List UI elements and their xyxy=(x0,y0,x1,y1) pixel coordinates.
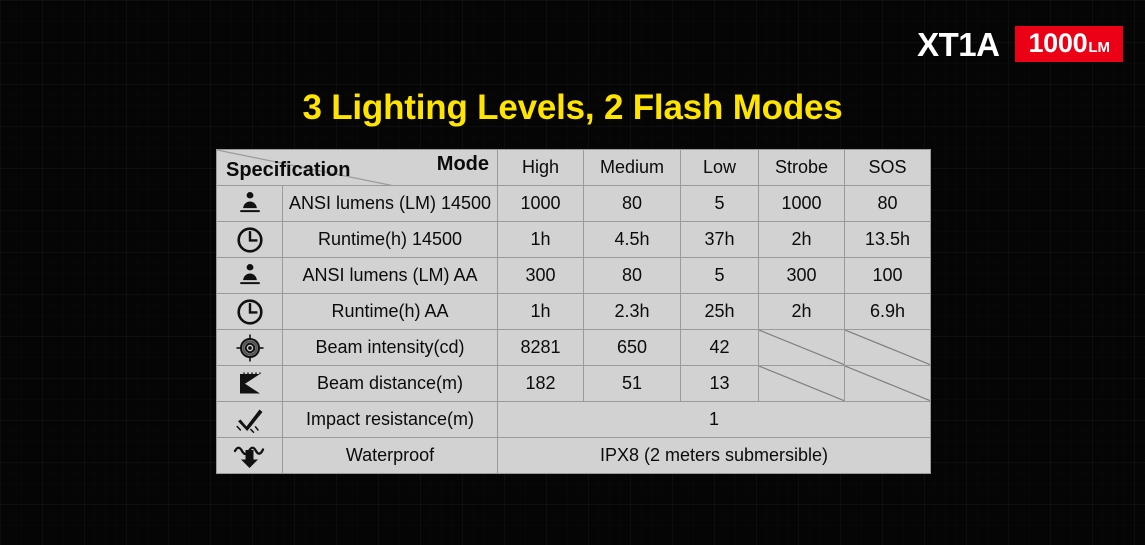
cell-sos: 100 xyxy=(845,258,931,294)
header-corner-cell: Mode Specification xyxy=(217,150,498,186)
cell-waterproof-value: IPX8 (2 meters submersible) xyxy=(498,438,931,474)
header-mode-sos: SOS xyxy=(845,150,931,186)
cell-strobe: 1000 xyxy=(759,186,845,222)
cell-low: 37h xyxy=(681,222,759,258)
cell-high: 8281 xyxy=(498,330,584,366)
cell-sos-not-applicable xyxy=(845,330,931,366)
cell-sos: 13.5h xyxy=(845,222,931,258)
cell-strobe: 2h xyxy=(759,294,845,330)
cell-sos: 6.9h xyxy=(845,294,931,330)
table-row: Waterproof IPX8 (2 meters submersible) xyxy=(217,438,931,474)
cell-high: 300 xyxy=(498,258,584,294)
cell-low: 42 xyxy=(681,330,759,366)
target-icon xyxy=(217,330,283,366)
spec-table-container: Mode Specification High Medium Low Strob… xyxy=(216,149,930,474)
cell-strobe: 2h xyxy=(759,222,845,258)
sunburst-icon xyxy=(217,258,283,294)
lumens-unit: LM xyxy=(1088,40,1110,55)
cell-impact-resistance-value: 1 xyxy=(498,402,931,438)
header-mode-strobe: Strobe xyxy=(759,150,845,186)
cell-strobe-not-applicable xyxy=(759,330,845,366)
specification-table: Mode Specification High Medium Low Strob… xyxy=(216,149,931,474)
table-row: Runtime(h) 14500 1h 4.5h 37h 2h 13.5h xyxy=(217,222,931,258)
clock-icon xyxy=(217,222,283,258)
header-mode-medium: Medium xyxy=(584,150,681,186)
cell-medium: 80 xyxy=(584,186,681,222)
diagonal-slash-icon xyxy=(845,366,930,401)
lumens-value: 1000 xyxy=(1028,30,1087,57)
table-row: Beam distance(m) 182 51 13 xyxy=(217,366,931,402)
model-name: XT1A xyxy=(917,28,999,61)
table-row: ANSI lumens (LM) AA 300 80 5 300 100 xyxy=(217,258,931,294)
header-mode-label: Mode xyxy=(437,153,489,176)
header-spec-label: Specification xyxy=(226,159,350,182)
diagonal-slash-icon xyxy=(759,330,844,365)
cell-high: 182 xyxy=(498,366,584,402)
cell-high: 1h xyxy=(498,222,584,258)
table-body: ANSI lumens (LM) 14500 1000 80 5 1000 80 xyxy=(217,186,931,474)
header-row: Mode Specification High Medium Low Strob… xyxy=(217,150,931,186)
row-label: Impact resistance(m) xyxy=(283,402,498,438)
cell-high: 1h xyxy=(498,294,584,330)
row-label: Beam intensity(cd) xyxy=(283,330,498,366)
model-badge-bar: XT1A 1000LM xyxy=(917,26,1123,62)
table-row: ANSI lumens (LM) 14500 1000 80 5 1000 80 xyxy=(217,186,931,222)
cell-sos: 80 xyxy=(845,186,931,222)
cell-medium: 51 xyxy=(584,366,681,402)
row-label: ANSI lumens (LM) 14500 xyxy=(283,186,498,222)
product-spec-page: XT1A 1000LM 3 Lighting Levels, 2 Flash M… xyxy=(0,0,1145,545)
cell-strobe-not-applicable xyxy=(759,366,845,402)
impact-check-icon xyxy=(217,402,283,438)
cell-low: 13 xyxy=(681,366,759,402)
page-headline: 3 Lighting Levels, 2 Flash Modes xyxy=(0,88,1145,128)
cell-low: 5 xyxy=(681,186,759,222)
cell-medium: 80 xyxy=(584,258,681,294)
row-label: Runtime(h) 14500 xyxy=(283,222,498,258)
cell-medium: 4.5h xyxy=(584,222,681,258)
cell-sos-not-applicable xyxy=(845,366,931,402)
sunburst-icon xyxy=(217,186,283,222)
cell-medium: 650 xyxy=(584,330,681,366)
cell-strobe: 300 xyxy=(759,258,845,294)
lumens-badge: 1000LM xyxy=(1015,26,1123,62)
beam-cone-icon xyxy=(217,366,283,402)
clock-icon xyxy=(217,294,283,330)
header-mode-high: High xyxy=(498,150,584,186)
cell-high: 1000 xyxy=(498,186,584,222)
row-label: Runtime(h) AA xyxy=(283,294,498,330)
diagonal-slash-icon xyxy=(845,330,930,365)
cell-medium: 2.3h xyxy=(584,294,681,330)
table-row: Runtime(h) AA 1h 2.3h 25h 2h 6.9h xyxy=(217,294,931,330)
table-row: Beam intensity(cd) 8281 650 42 xyxy=(217,330,931,366)
row-label: ANSI lumens (LM) AA xyxy=(283,258,498,294)
cell-low: 5 xyxy=(681,258,759,294)
waterproof-icon xyxy=(217,438,283,474)
cell-low: 25h xyxy=(681,294,759,330)
diagonal-slash-icon xyxy=(759,366,844,401)
table-row: Impact resistance(m) 1 xyxy=(217,402,931,438)
header-mode-low: Low xyxy=(681,150,759,186)
row-label: Waterproof xyxy=(283,438,498,474)
row-label: Beam distance(m) xyxy=(283,366,498,402)
table-header: Mode Specification High Medium Low Strob… xyxy=(217,150,931,186)
